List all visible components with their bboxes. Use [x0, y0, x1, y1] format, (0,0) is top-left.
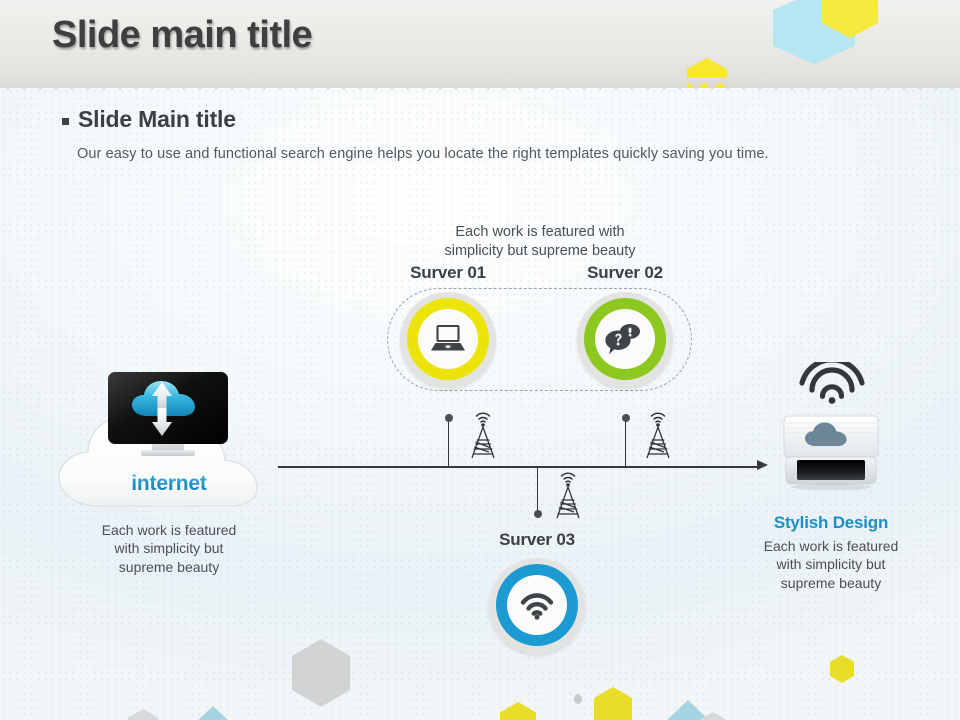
node-surver-03[interactable] [489, 558, 585, 654]
wifi-signal-icon [797, 362, 867, 402]
node-label-surver-02: Surver 02 [557, 263, 693, 283]
destination-caption-line3: supreme beauty [741, 574, 921, 592]
node-surver-02[interactable] [577, 292, 673, 388]
diagram-top-caption-line2: simplicity but supreme beauty [400, 242, 680, 261]
antenna-tower-icon [463, 404, 503, 462]
destination-caption-line1: Each work is featured [741, 537, 921, 555]
page-title: Slide main title [52, 14, 312, 57]
internet-label: internet [55, 472, 283, 496]
section-heading-row: Slide Main title [62, 106, 236, 133]
flow-line-horizontal [278, 466, 760, 468]
cloud-sync-monitor-icon [105, 370, 231, 462]
antenna-tower-icon [638, 404, 678, 462]
node-inner-disc [595, 309, 655, 369]
laptop-icon [430, 324, 466, 354]
wifi-icon [518, 590, 556, 620]
connector-dot-surver-02 [622, 414, 630, 422]
zigzag-divider [0, 78, 960, 92]
connector-line-surver-02 [625, 418, 626, 466]
destination-caption-line2: with simplicity but [741, 555, 921, 573]
node-label-surver-03: Surver 03 [469, 530, 605, 550]
node-label-surver-01: Surver 01 [380, 263, 516, 283]
node-inner-disc [418, 309, 478, 369]
cloud-router-icon[interactable] [777, 410, 885, 490]
decor-dot-gray-icon [574, 694, 582, 704]
arrow-right-icon [757, 460, 768, 470]
internet-caption-line1: Each work is featured [55, 521, 283, 539]
internet-caption: Each work is featured with simplicity bu… [55, 521, 283, 576]
internet-caption-line2: with simplicity but [55, 539, 283, 557]
internet-caption-line3: supreme beauty [55, 558, 283, 576]
antenna-tower-icon [548, 464, 588, 522]
node-inner-disc [507, 575, 567, 635]
diagram-top-caption-line1: Each work is featured with [400, 223, 680, 242]
connector-line-surver-01 [448, 418, 449, 466]
destination-caption: Each work is featured with simplicity bu… [741, 537, 921, 592]
square-bullet-icon [62, 118, 69, 125]
section-title: Slide Main title [78, 106, 236, 133]
node-surver-01[interactable] [400, 292, 496, 388]
destination-title: Stylish Design [741, 513, 921, 533]
slide-canvas: Slide main title Slide Main title Our ea… [0, 0, 960, 720]
section-description: Our easy to use and functional search en… [77, 146, 769, 162]
connector-dot-surver-01 [445, 414, 453, 422]
connector-line-surver-03 [537, 466, 538, 514]
diagram-top-caption: Each work is featured with simplicity bu… [400, 223, 680, 261]
speech-bubbles-question-exclamation-icon [604, 322, 646, 356]
connector-dot-surver-03 [534, 510, 542, 518]
slide-header: Slide main title [0, 0, 960, 88]
